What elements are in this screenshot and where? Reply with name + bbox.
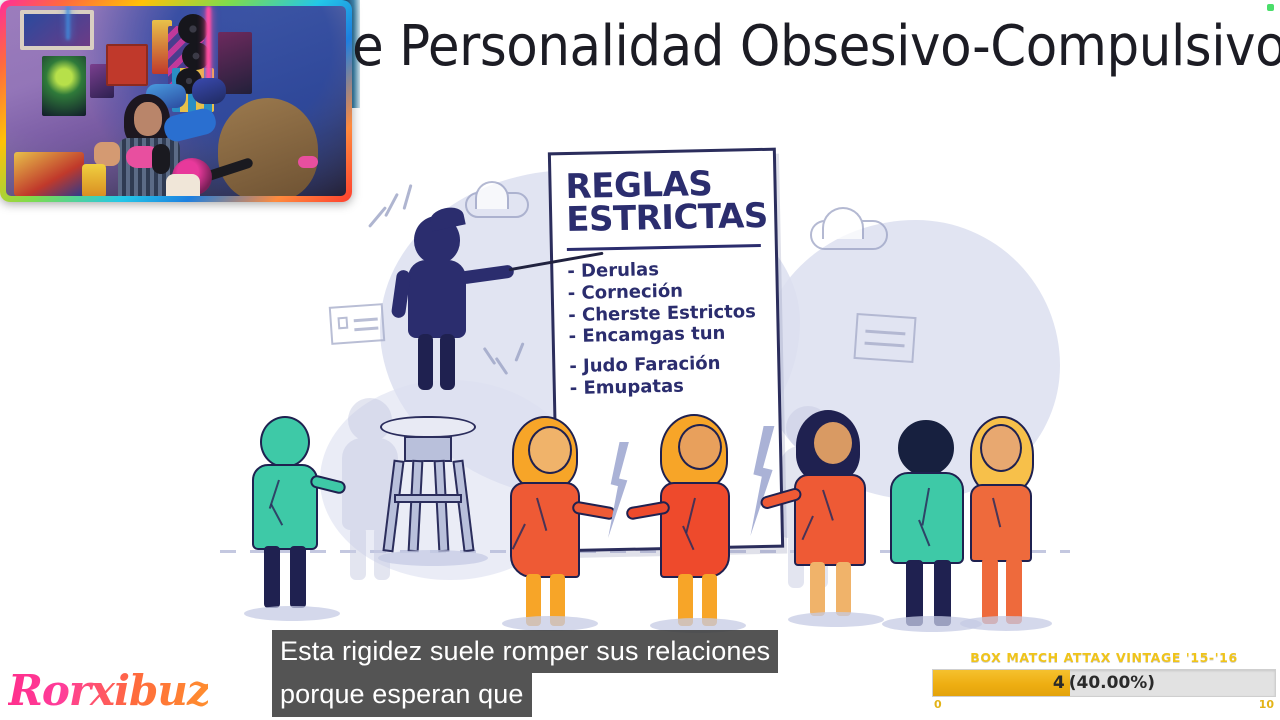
figure-shadow [788,612,884,627]
goal-count: 4 [1053,673,1065,693]
figure-shadow [378,550,488,566]
illustration: REGLAS ESTRICTAS - Derulas - Corneción -… [200,130,1080,630]
document-doodle-icon [853,313,916,363]
streamer-hand [94,142,120,166]
slide-title: e Personalidad Obsesivo-Compulsivo [352,14,1180,79]
goal-progress-widget: BOX MATCH ATTAX VINTAGE '15-'16 4 (40.00… [932,650,1276,716]
microphone [152,144,170,174]
webcam-overlay[interactable] [0,0,352,202]
cloud-icon [810,220,888,250]
poster-rule-list: - Derulas - Corneción - Cherste Estricto… [567,257,764,401]
goal-percent: (40.00%) [1069,673,1155,693]
caption-line-2: porque esperan que [272,673,532,716]
vinyl-record [178,14,208,44]
goal-max-label: 10 [1259,698,1274,711]
figure-shadow [960,616,1052,631]
wall-poster [42,56,86,116]
list-item: - Encamgas tun [568,322,762,348]
drink-can [82,164,106,196]
neon-strip [206,6,211,86]
webcam-feed[interactable] [6,6,346,196]
goal-title: BOX MATCH ATTAX VINTAGE '15-'16 [932,650,1276,665]
chair-accent [298,156,318,168]
streamer-face [134,102,162,136]
plushie [192,78,226,104]
goal-scale: 0 10 [932,697,1276,713]
motion-line [402,184,412,210]
box-item [14,152,84,196]
motion-line [368,206,387,228]
poster-heading-line2: ESTRICTAS [566,200,761,237]
live-indicator-dot [1267,4,1274,11]
goal-progress-track: 4 (40.00%) [932,669,1276,697]
plushie [166,174,200,196]
streamer-arm [162,106,219,144]
goal-min-label: 0 [934,698,942,711]
figure-shadow [502,616,598,631]
motion-line [384,193,399,217]
figure-shadow [244,606,340,621]
stool [380,416,476,556]
cloud-icon [465,192,529,218]
list-item: - Emupatas [570,374,764,400]
wall-frame [20,10,94,50]
subtitle-captions: Esta rigidez suele romper sus relaciones… [272,630,972,717]
neon-strip [66,6,70,40]
channel-logo: Rorxibuz [8,666,208,716]
goal-value-label: 4 (40.00%) [933,670,1275,696]
wall-shelf [106,44,148,86]
caption-line-1: Esta rigidez suele romper sus relaciones [272,630,778,673]
document-doodle-icon [329,303,386,345]
plush-toy [218,98,318,196]
poster-divider [567,244,761,251]
